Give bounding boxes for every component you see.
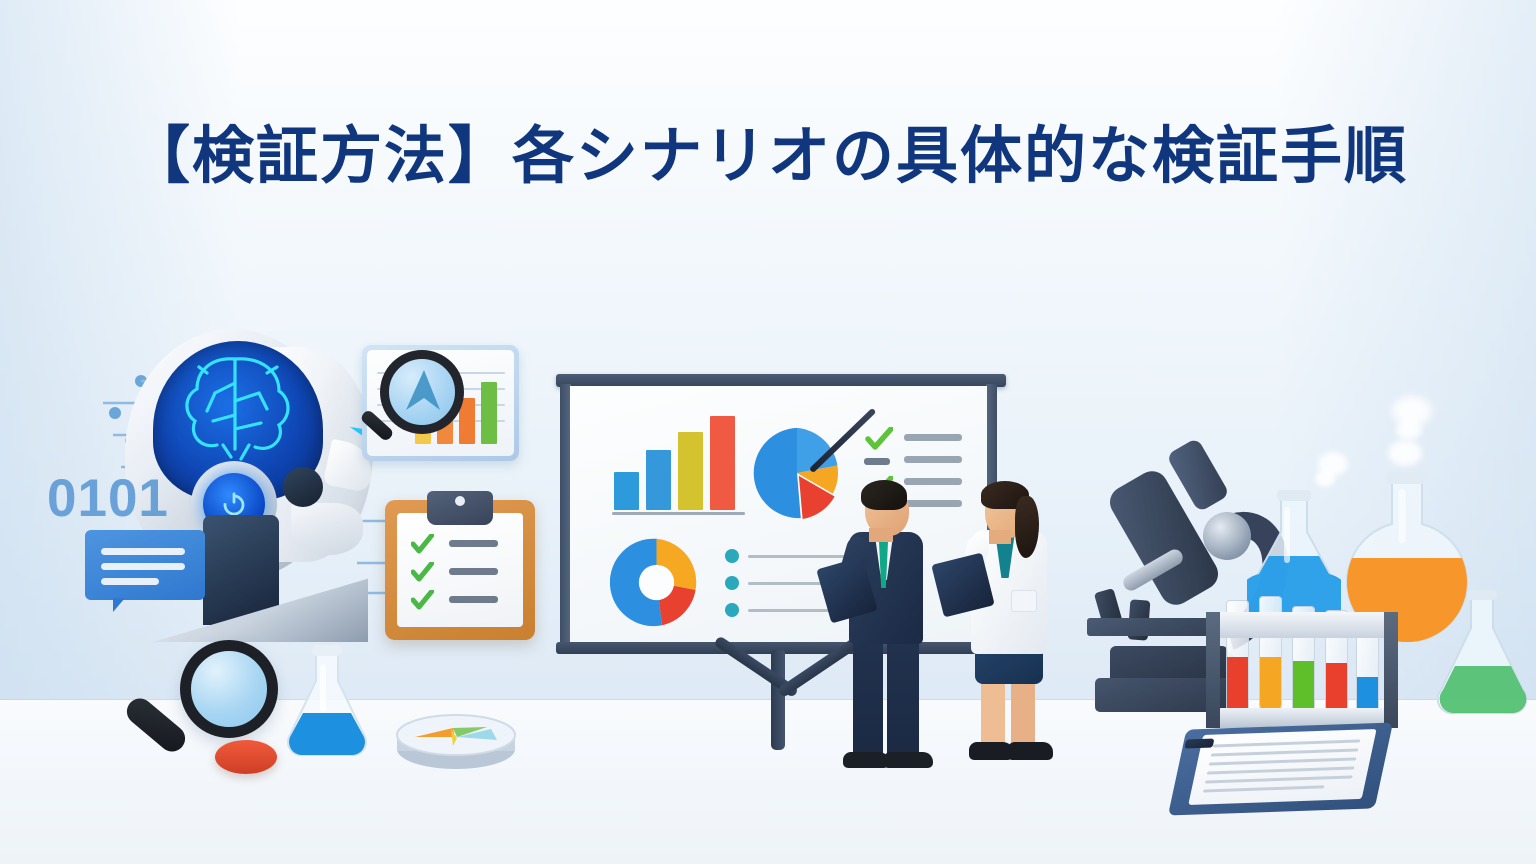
scientist-figure (955, 480, 1080, 780)
presenter-hair (861, 480, 907, 510)
check-icon (411, 534, 434, 554)
screen-bar-3 (678, 432, 703, 510)
bullet-dot (725, 576, 739, 590)
bullet-dot (725, 549, 739, 563)
erlenmeyer-flask-blue (285, 645, 369, 757)
robot-chin (291, 503, 363, 555)
check-icon (865, 427, 893, 451)
test-tube-rack (1218, 612, 1388, 732)
checklist-clipboard (385, 500, 535, 640)
smoke-puff (1318, 452, 1348, 476)
pie-chart (750, 426, 844, 520)
illustration-canvas: 【検証方法】各シナリオの具体的な検証手順 (0, 0, 1536, 864)
chat-bubble-icon (85, 530, 205, 600)
check-icon (411, 562, 434, 582)
sample-disc (215, 740, 277, 774)
smoke-puff (1392, 396, 1432, 426)
screen-bar-2 (646, 450, 671, 510)
petri-dish (395, 713, 518, 771)
check-icon (411, 590, 434, 610)
screen-bar-1 (614, 472, 639, 510)
page-title: 【検証方法】各シナリオの具体的な検証手順 (0, 123, 1536, 191)
trend-arrow-icon (400, 366, 446, 414)
binary-label: 0101 (47, 468, 169, 529)
bullet-dot (725, 603, 739, 617)
document-clipboard (1168, 722, 1393, 815)
presenter-figure (835, 480, 965, 780)
donut-chart (610, 536, 703, 629)
smoke-puff (1388, 440, 1422, 466)
clipboard-clamp (1184, 739, 1214, 749)
robot-ear-port (283, 467, 323, 507)
tripod-leg-center (771, 688, 785, 750)
magnifier-lens-icon (180, 640, 278, 738)
erlenmeyer-flask-green (1437, 590, 1529, 715)
ai-head-module: 0101 (95, 325, 395, 655)
panel-bar-4 (481, 382, 497, 444)
screen-bar-4 (710, 416, 735, 510)
